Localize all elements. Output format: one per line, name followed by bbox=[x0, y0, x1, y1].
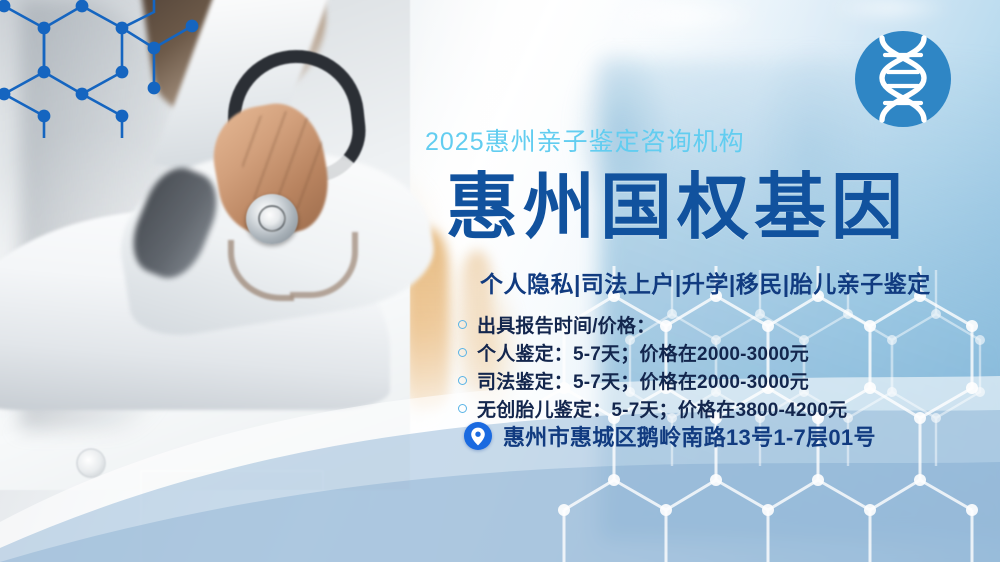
address-block: 惠州市惠城区鹅岭南路13号1-7层01号 bbox=[464, 420, 876, 452]
list-item: 司法鉴定：5-7天；价格在2000-3000元 bbox=[458, 368, 958, 393]
circle-outline-bullet-icon bbox=[458, 348, 467, 357]
list-item-label: 个人鉴定：5-7天；价格在2000-3000元 bbox=[477, 339, 809, 366]
list-item-label: 司法鉴定：5-7天；价格在2000-3000元 bbox=[477, 367, 809, 394]
list-item: 个人鉴定：5-7天；价格在2000-3000元 bbox=[458, 340, 958, 365]
clinic-promo-banner: 2025惠州亲子鉴定咨询机构 惠州国权基因 个人隐私|司法上户|升学|移民|胎儿… bbox=[0, 0, 1000, 562]
services-list: 个人隐私|司法上户|升学|移民|胎儿亲子鉴定 bbox=[480, 265, 931, 299]
list-item-label: 出具报告时间/价格： bbox=[477, 311, 655, 338]
address-text: 惠州市惠城区鹅岭南路13号1-7层01号 bbox=[503, 420, 876, 452]
list-item: 无创胎儿鉴定：5-7天；价格在3800-4200元 bbox=[458, 396, 958, 421]
list-item: 出具报告时间/价格： bbox=[458, 312, 958, 337]
circle-outline-bullet-icon bbox=[458, 404, 467, 413]
banner-eyebrow: 2025惠州亲子鉴定咨询机构 bbox=[425, 122, 745, 158]
circle-outline-bullet-icon bbox=[458, 376, 467, 385]
hexagon-lattice-icon-top-left bbox=[0, 0, 236, 138]
location-pin-icon bbox=[464, 422, 492, 450]
stethoscope-chestpiece-icon bbox=[246, 194, 298, 244]
pricing-list: 出具报告时间/价格： 个人鉴定：5-7天；价格在2000-3000元 司法鉴定：… bbox=[458, 312, 958, 424]
list-item-label: 无创胎儿鉴定：5-7天；价格在3800-4200元 bbox=[477, 395, 847, 422]
banner-content: 2025惠州亲子鉴定咨询机构 惠州国权基因 个人隐私|司法上户|升学|移民|胎儿… bbox=[420, 0, 980, 562]
page-title: 惠州国权基因 bbox=[446, 172, 908, 244]
circle-outline-bullet-icon bbox=[458, 320, 467, 329]
